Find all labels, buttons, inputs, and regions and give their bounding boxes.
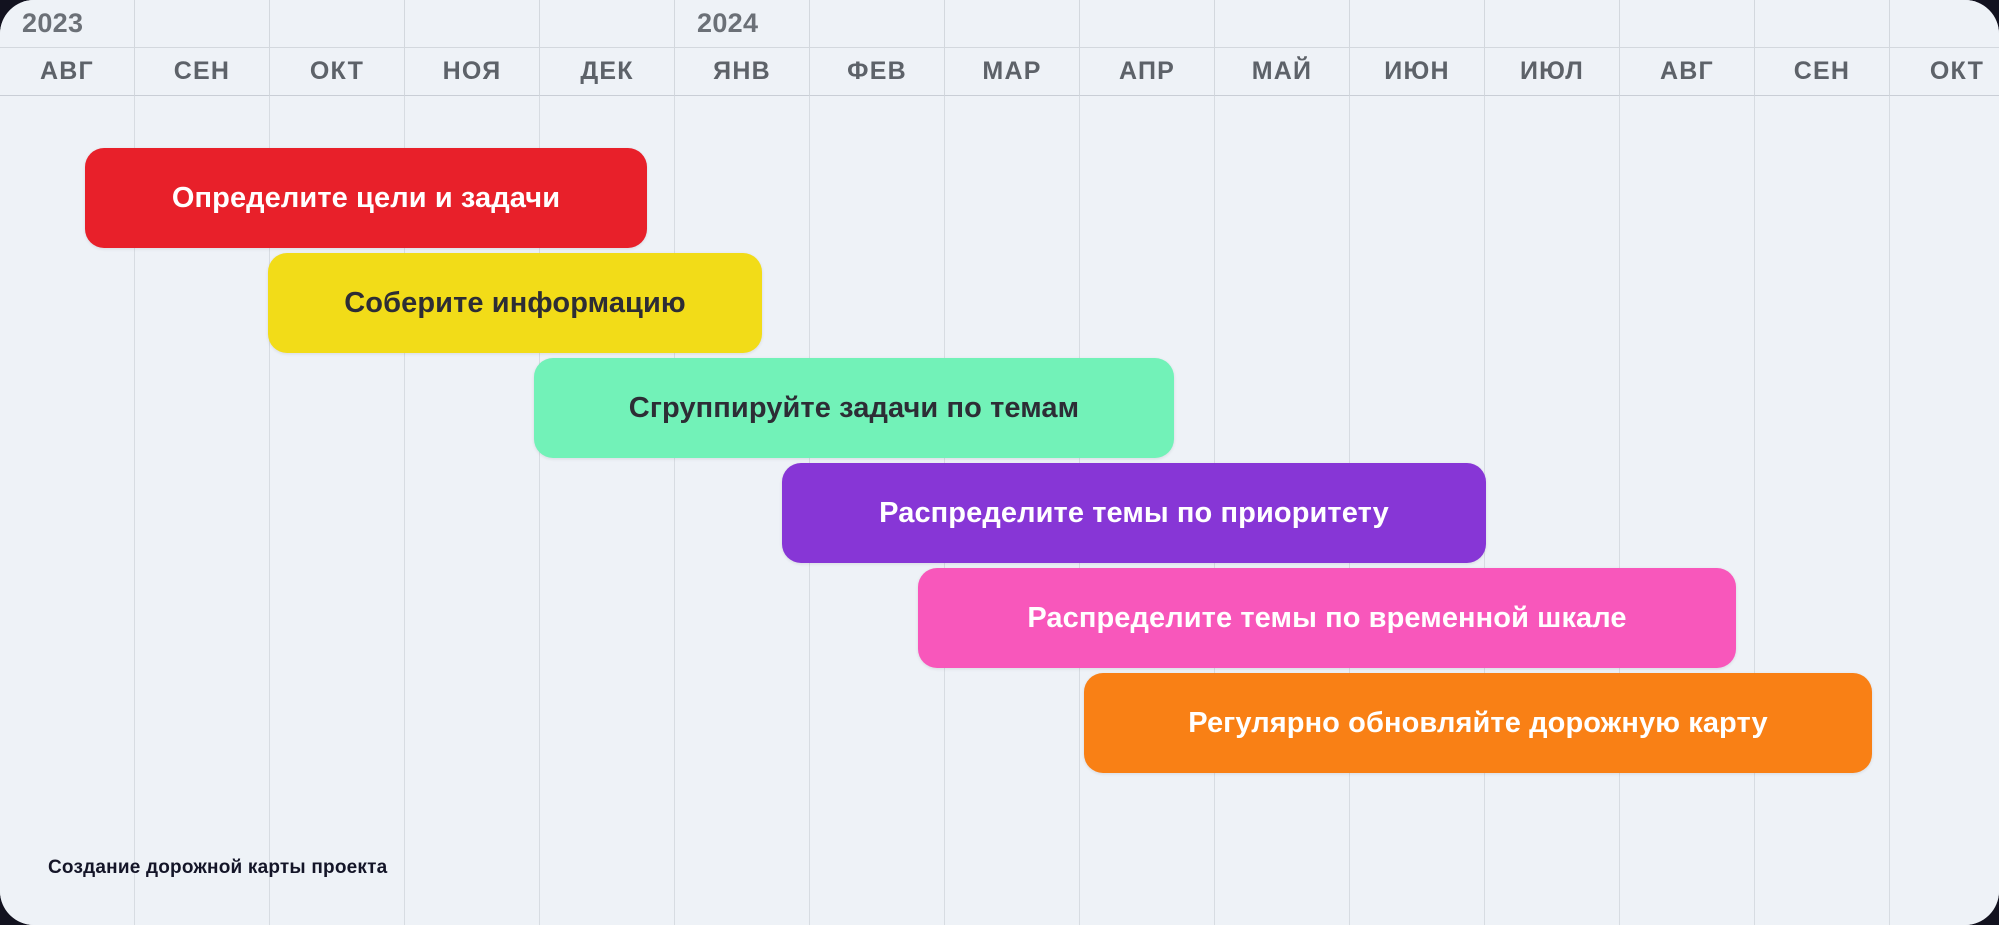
month-header-cell: СЕН (135, 48, 270, 96)
year-label: 2023 (22, 8, 83, 39)
year-header-row: 20232024 (0, 0, 1999, 48)
month-header-cell: ДЕК (540, 48, 675, 96)
gantt-body: Определите цели и задачиСоберите информа… (0, 96, 1999, 925)
year-header-cell-empty (945, 0, 1080, 48)
month-header-cell: НОЯ (405, 48, 540, 96)
year-header-cell-empty (1485, 0, 1620, 48)
month-label: СЕН (1794, 57, 1850, 86)
month-header-cell: АВГ (0, 48, 135, 96)
year-header-cell-empty (1620, 0, 1755, 48)
month-label: АВГ (40, 57, 94, 86)
month-label: ДЕК (580, 57, 633, 86)
year-header-cell-empty (1890, 0, 1999, 48)
task-bar[interactable]: Регулярно обновляйте дорожную карту (1084, 673, 1872, 773)
month-label: АПР (1119, 57, 1175, 86)
year-label: 2024 (697, 8, 758, 39)
task-bar[interactable]: Соберите информацию (268, 253, 762, 353)
month-label: ИЮЛ (1520, 57, 1584, 86)
year-header-cell-empty (540, 0, 675, 48)
task-bar-label: Определите цели и задачи (172, 184, 560, 213)
month-label: МАЙ (1252, 57, 1312, 86)
chart-caption: Создание дорожной карты проекта (48, 857, 387, 879)
task-bar[interactable]: Сгруппируйте задачи по темам (534, 358, 1174, 458)
month-header-cell: ИЮЛ (1485, 48, 1620, 96)
gantt-chart-root: 20232024 АВГСЕНОКТНОЯДЕКЯНВФЕВМАРАПРМАЙИ… (0, 0, 1999, 925)
year-header-cell-empty (270, 0, 405, 48)
month-label: ОКТ (1930, 57, 1984, 86)
month-label: НОЯ (443, 57, 502, 86)
month-label: ИЮН (1384, 57, 1449, 86)
task-bar-label: Соберите информацию (344, 289, 686, 318)
year-header-cell-empty (405, 0, 540, 48)
month-label: АВГ (1660, 57, 1714, 86)
month-header-cell: ФЕВ (810, 48, 945, 96)
year-header-cell: 2024 (675, 0, 810, 48)
gantt-card: 20232024 АВГСЕНОКТНОЯДЕКЯНВФЕВМАРАПРМАЙИ… (0, 0, 1999, 925)
year-header-cell-empty (810, 0, 945, 48)
month-label: ФЕВ (847, 57, 907, 86)
task-bar[interactable]: Определите цели и задачи (85, 148, 647, 248)
month-header-cell: АВГ (1620, 48, 1755, 96)
month-header-cell: ИЮН (1350, 48, 1485, 96)
month-header-row: АВГСЕНОКТНОЯДЕКЯНВФЕВМАРАПРМАЙИЮНИЮЛАВГС… (0, 48, 1999, 96)
task-bar[interactable]: Распределите темы по приоритету (782, 463, 1486, 563)
month-label: СЕН (174, 57, 230, 86)
year-header-cell-empty (1350, 0, 1485, 48)
month-header-cell: МАР (945, 48, 1080, 96)
month-header-cell: АПР (1080, 48, 1215, 96)
task-bars-layer: Определите цели и задачиСоберите информа… (0, 96, 1999, 925)
task-bar-label: Сгруппируйте задачи по темам (629, 394, 1079, 423)
month-header-cell: ОКТ (270, 48, 405, 96)
month-header-cell: МАЙ (1215, 48, 1350, 96)
year-header-cell-empty (1080, 0, 1215, 48)
year-header-cell-empty (1215, 0, 1350, 48)
task-bar-label: Регулярно обновляйте дорожную карту (1188, 709, 1768, 738)
month-header-cell: СЕН (1755, 48, 1890, 96)
month-header-cell: ОКТ (1890, 48, 1999, 96)
year-header-cell-empty (135, 0, 270, 48)
year-header-cell-empty (1755, 0, 1890, 48)
timeline-header: 20232024 АВГСЕНОКТНОЯДЕКЯНВФЕВМАРАПРМАЙИ… (0, 0, 1999, 96)
year-header-cell: 2023 (0, 0, 135, 48)
task-bar-label: Распределите темы по приоритету (879, 499, 1389, 528)
month-label: МАР (982, 57, 1041, 86)
month-header-cell: ЯНВ (675, 48, 810, 96)
task-bar[interactable]: Распределите темы по временной шкале (918, 568, 1736, 668)
task-bar-label: Распределите темы по временной шкале (1027, 604, 1626, 633)
month-label: ЯНВ (713, 57, 771, 86)
month-label: ОКТ (310, 57, 364, 86)
